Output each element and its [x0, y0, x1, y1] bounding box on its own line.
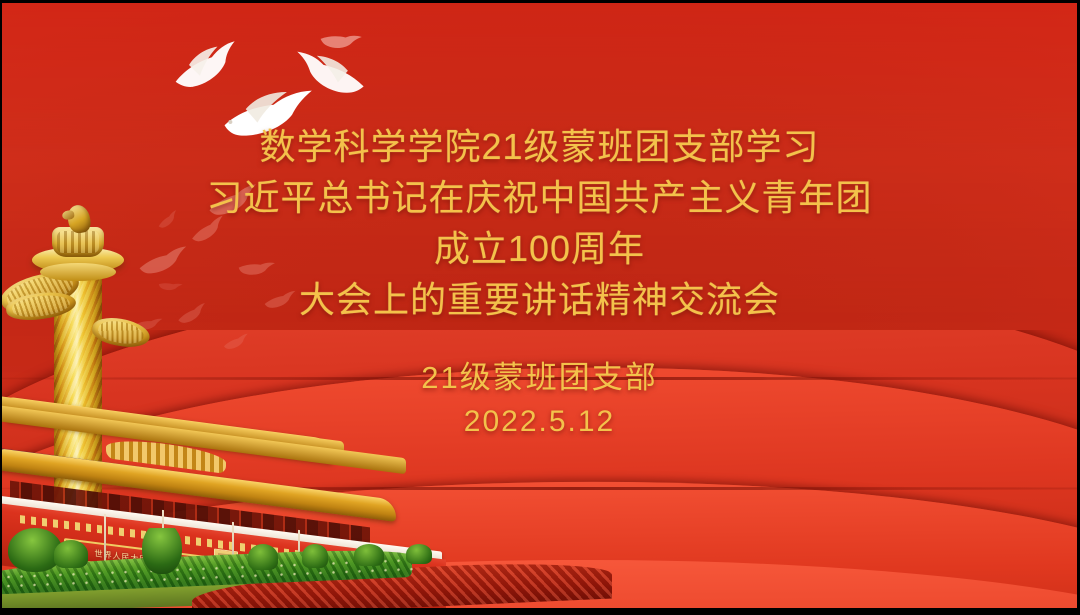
- bush: [406, 544, 432, 564]
- slide-background: 世界人民大团结万岁 中华人民共和国万岁 数学科学学院21: [2, 3, 1077, 608]
- frame-left: [0, 0, 2, 615]
- title-line-4: 大会上的重要讲话精神交流会: [2, 274, 1077, 325]
- tree: [142, 528, 182, 574]
- title-line-3: 成立100周年: [2, 223, 1077, 274]
- bush: [302, 544, 328, 568]
- title-line-1: 数学科学学院21级蒙班团支部学习: [2, 121, 1077, 172]
- text-spacer: [2, 325, 1077, 355]
- frame-top: [0, 0, 1080, 3]
- presentation-slide: 世界人民大团结万岁 中华人民共和国万岁 数学科学学院21: [0, 0, 1080, 615]
- foreground-garden: [2, 528, 1077, 608]
- bush: [354, 544, 384, 566]
- bush: [54, 540, 88, 568]
- title-line-2: 习近平总书记在庆祝中国共产主义青年团: [2, 172, 1077, 223]
- slide-text-block: 数学科学学院21级蒙班团支部学习 习近平总书记在庆祝中国共产主义青年团 成立10…: [2, 121, 1077, 444]
- bush: [248, 544, 278, 570]
- frame-bottom: [0, 608, 1080, 615]
- organization-label: 21级蒙班团支部: [2, 355, 1077, 400]
- date-label: 2022.5.12: [2, 400, 1077, 444]
